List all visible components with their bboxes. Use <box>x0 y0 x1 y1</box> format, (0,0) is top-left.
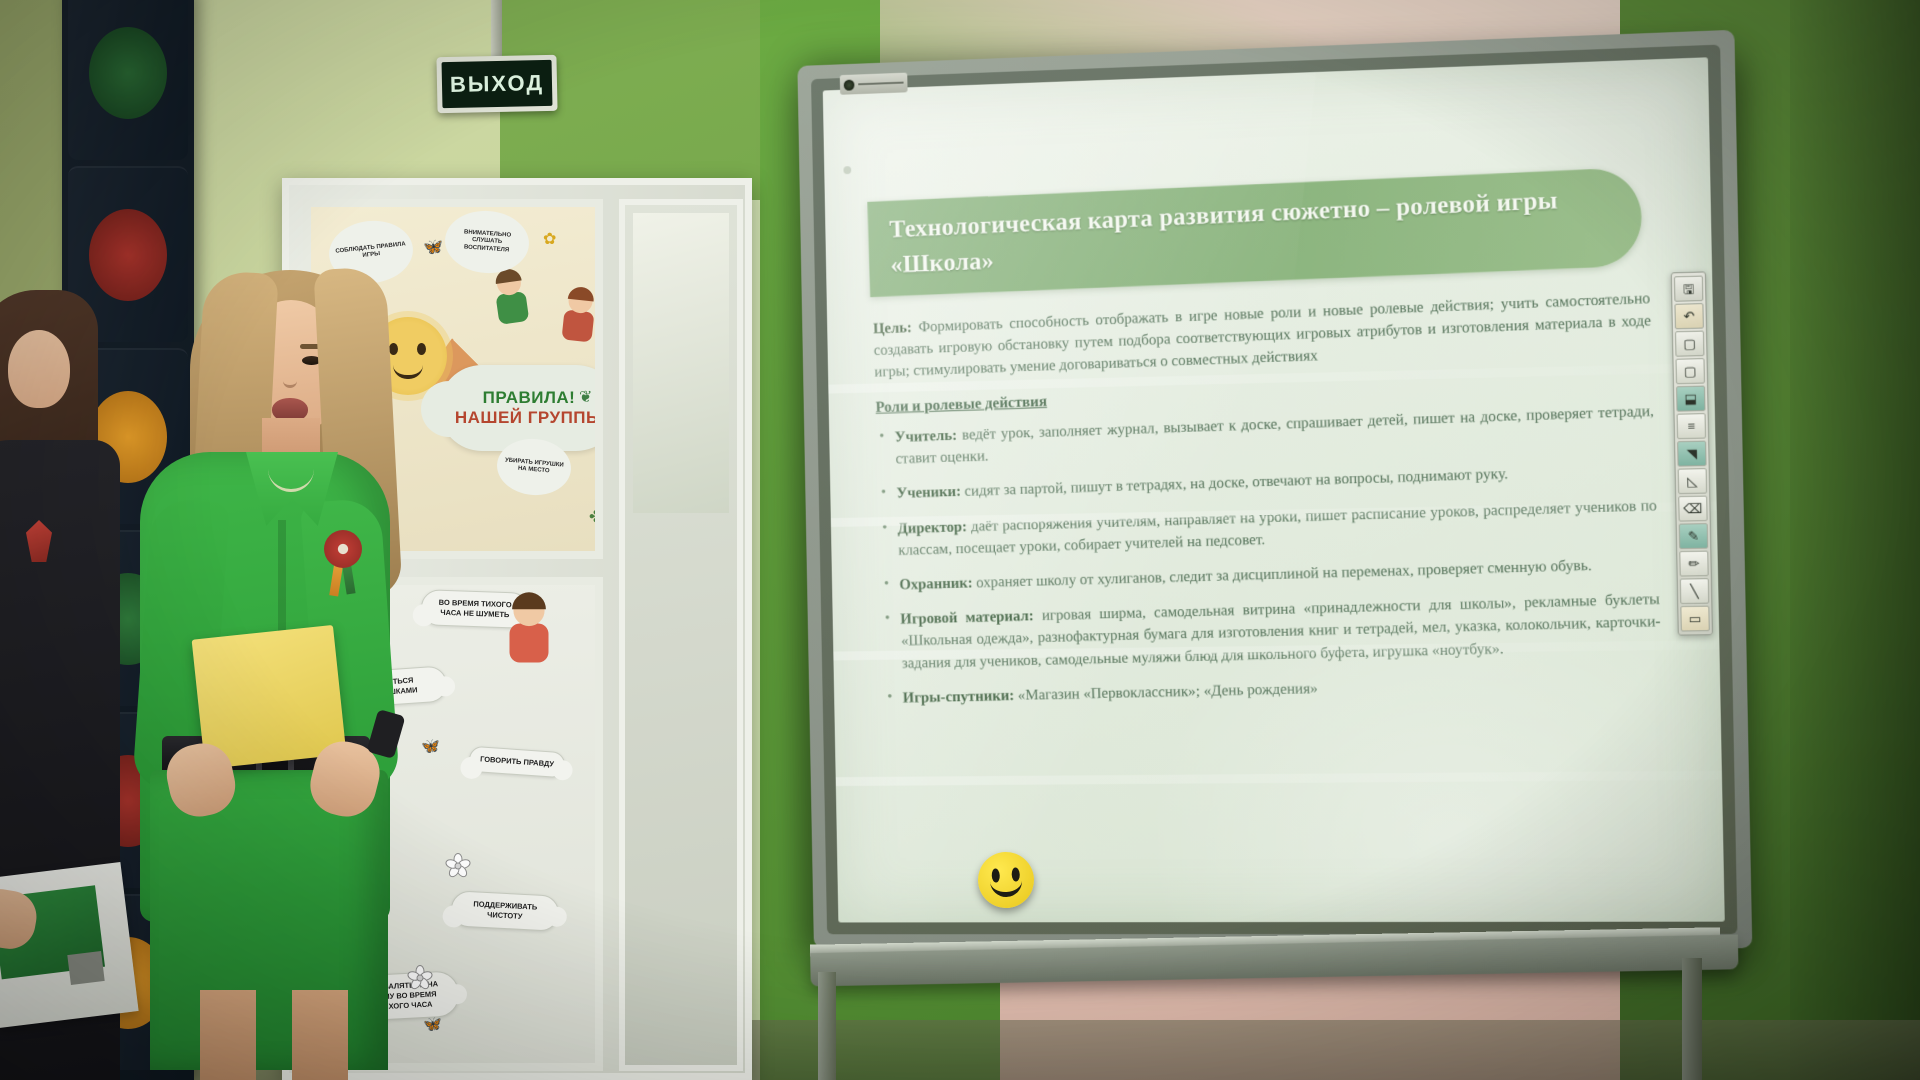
exit-sign: ВЫХОД <box>436 55 557 114</box>
whiteboard-brand-plate <box>840 73 908 95</box>
rule-cloud-truth: ГОВОРИТЬ ПРАВДУ <box>468 746 566 779</box>
slide-title-banner: Технологическая карта развития сюжетно –… <box>867 167 1643 297</box>
brand-line <box>858 82 903 86</box>
save-icon: 🖫 <box>1683 282 1695 296</box>
bullet-label: Игры-спутники: <box>903 687 1015 706</box>
brooch <box>322 530 364 596</box>
slide-body: Цель: Формировать способность отображать… <box>873 288 1663 710</box>
smiley-mouth <box>990 879 1023 898</box>
eraser-button[interactable]: ⌫ <box>1678 496 1707 522</box>
slide-bullet-item: Игровой материал: игровая ширма, самодел… <box>882 589 1662 676</box>
menu-button[interactable]: ≡ <box>1677 413 1706 439</box>
blank-page-button[interactable]: ▢ <box>1676 358 1705 384</box>
face <box>8 330 70 408</box>
bullet-text: игровая ширма, самодельная витрина «прин… <box>901 591 1661 672</box>
brooch-flower <box>324 530 362 568</box>
presentation-slide: Технологическая карта развития сюжетно –… <box>852 106 1700 888</box>
slide-bullet-list: Учитель: ведёт урок, заполняет журнал, в… <box>876 400 1663 709</box>
whiteboard-stand-right <box>1682 958 1702 1080</box>
undo-icon: ↶ <box>1683 309 1695 323</box>
flower-icon-3 <box>407 965 433 991</box>
bullet-label: Игровой материал: <box>900 608 1034 628</box>
poster-child-right <box>554 287 603 345</box>
slide-goal-text: Формировать способность отображать в игр… <box>874 290 1652 381</box>
bullet-text: охраняет школу от хулиганов, следит за д… <box>972 557 1592 591</box>
slide-goal-paragraph: Цель: Формировать способность отображать… <box>873 288 1652 384</box>
undo-button[interactable]: ↶ <box>1674 303 1703 329</box>
screen-dust-spot <box>843 166 851 174</box>
fill-icon: ◥ <box>1687 447 1698 460</box>
room-photo-scene: ВЫХОД П <box>0 0 1920 1080</box>
page-icon: ▢ <box>1683 337 1696 351</box>
sun-mouth <box>393 365 423 379</box>
slide-bullet-item: Директор: даёт распоряжения учителям, на… <box>879 494 1658 562</box>
bullet-label: Учитель: <box>895 427 958 446</box>
child-body <box>561 309 594 342</box>
door-child-figure <box>500 595 557 665</box>
whiteboard-stand-left <box>818 972 836 1080</box>
certificate-seal <box>67 951 104 985</box>
page-button[interactable]: ▢ <box>1675 331 1704 357</box>
select-icon: ⬓ <box>1684 392 1697 406</box>
select-button[interactable]: ⬓ <box>1676 386 1705 412</box>
bullet-label: Охранник: <box>899 574 973 593</box>
bullet-text: даёт распоряжения учителям, направляет н… <box>898 496 1657 558</box>
whiteboard-side-toolbar[interactable]: 🖫 ↶ ▢ ▢ ⬓ ≡ ◥ ◺ ⌫ ✎ ✏ ╲ ▭ <box>1671 271 1713 635</box>
brand-dot-icon <box>844 79 855 90</box>
leaf-icon-2: ✤ <box>589 507 602 527</box>
blank-page-icon: ▢ <box>1684 364 1697 378</box>
fill-button[interactable]: ◥ <box>1677 441 1706 467</box>
bullet-text: сидят за партой, пишут в тетрадях, на до… <box>961 466 1509 501</box>
bullet-label: Ученики: <box>896 483 961 502</box>
rule-cloud-clean: ПОДДЕРЖИВАТЬ ЧИСТОТУ <box>450 890 560 932</box>
butterfly-icon-2: 🦋 <box>421 737 440 756</box>
poster-title-line1: ПРАВИЛА! <box>483 388 576 408</box>
butterfly-icon: 🦋 <box>423 237 443 257</box>
eraser-icon: ⌫ <box>1683 502 1702 516</box>
child-body <box>495 291 529 325</box>
poster-title-banner: ПРАВИЛА! НАШЕЙ ГРУППЫ <box>439 365 603 451</box>
star-icon: ✿ <box>543 229 556 249</box>
slide-goal-label: Цель: <box>873 319 912 337</box>
butterfly-icon-3: 🦋 <box>423 1015 442 1034</box>
child-body <box>510 624 549 663</box>
door-side-panel <box>619 199 743 1071</box>
poster-child-left <box>485 268 536 328</box>
save-button[interactable]: 🖫 <box>1674 276 1703 302</box>
shape-icon: ◺ <box>1687 474 1698 487</box>
menu-icon: ≡ <box>1687 419 1695 432</box>
wall-right-shadow <box>1790 0 1920 1080</box>
keyboard-button[interactable]: ▭ <box>1680 606 1709 632</box>
marker-button[interactable]: ✎ <box>1679 523 1708 549</box>
leaf-icon: ❦ <box>579 387 592 407</box>
exit-sign-face: ВЫХОД <box>442 60 553 108</box>
slide-bullet-item: Охранник: охраняет школу от хулиганов, с… <box>881 553 1659 597</box>
child-hair <box>512 592 546 609</box>
nose <box>283 372 297 388</box>
flower-icon-2 <box>445 853 471 879</box>
bullet-text: «Магазин «Первоклассник»; «День рождения… <box>1014 680 1318 704</box>
line-icon: ╲ <box>1690 584 1698 597</box>
keyboard-icon: ▭ <box>1689 612 1702 625</box>
slide-bullet-item: Игры-спутники: «Магазин «Первоклассник»;… <box>884 669 1663 709</box>
traffic-light-segment <box>68 0 188 160</box>
pen-icon: ✏ <box>1688 557 1700 570</box>
interactive-whiteboard[interactable]: Технологическая карта развития сюжетно –… <box>797 30 1752 948</box>
leg-left <box>200 990 256 1080</box>
poster-bubble-2: ВНИМАТЕЛЬНО СЛУШАТЬ ВОСПИТАТЕЛЯ <box>443 208 531 276</box>
line-button[interactable]: ╲ <box>1680 578 1709 604</box>
pen-button[interactable]: ✏ <box>1679 551 1708 577</box>
traffic-light-green-top <box>89 27 167 119</box>
slide-title: Технологическая карта развития сюжетно –… <box>889 181 1608 283</box>
traffic-light-red <box>89 209 167 301</box>
shape-button[interactable]: ◺ <box>1678 468 1707 494</box>
sun-eye-right <box>417 343 426 355</box>
bullet-label: Директор: <box>897 518 967 537</box>
child-hair <box>568 286 595 302</box>
door-glass <box>633 213 729 513</box>
exit-sign-label: ВЫХОД <box>450 70 545 98</box>
exit-sign-post <box>491 0 502 62</box>
poster-title-line2: НАШЕЙ ГРУППЫ <box>455 408 603 428</box>
sun-eye-left <box>389 343 398 355</box>
whiteboard-screen[interactable]: Технологическая карта развития сюжетно –… <box>823 57 1725 922</box>
whiteboard-bezel: Технологическая карта развития сюжетно –… <box>811 45 1737 935</box>
marker-icon: ✎ <box>1688 529 1700 542</box>
leg-right <box>292 990 348 1080</box>
